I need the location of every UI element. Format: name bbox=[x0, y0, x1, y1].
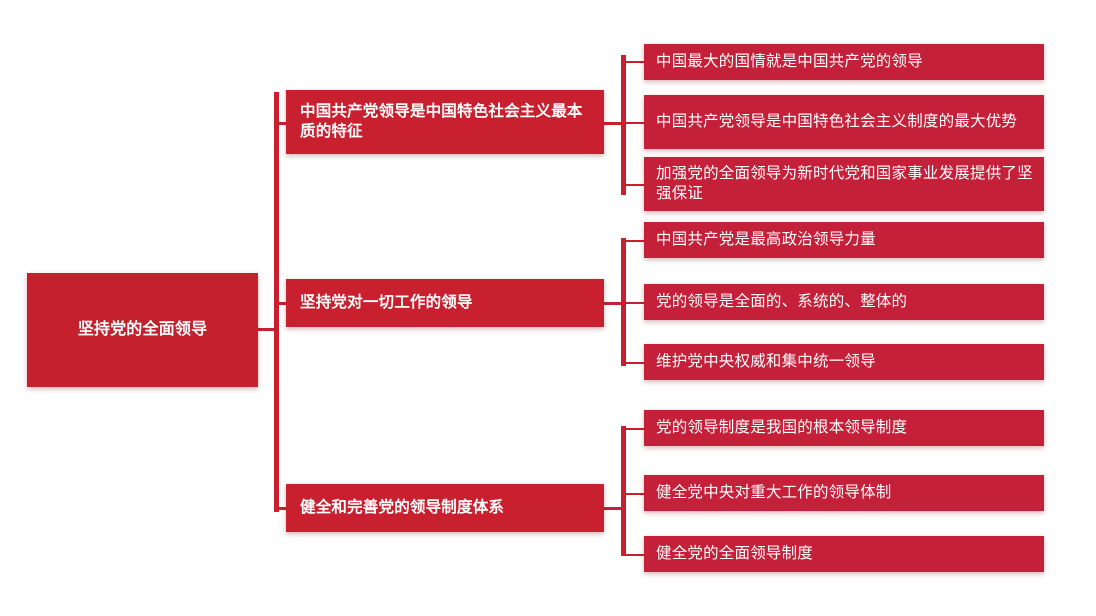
leaf-node-2-1[interactable]: 中国共产党是最高政治领导力量 bbox=[644, 222, 1044, 258]
leaf-node-1-3[interactable]: 加强党的全面领导为新时代党和国家事业发展提供了坚强保证 bbox=[644, 157, 1044, 211]
connector-leaf-stub-3-2 bbox=[621, 493, 645, 495]
branch-node-2[interactable]: 坚持党对一切工作的领导 bbox=[286, 279, 604, 327]
branch-node-3[interactable]: 健全和完善党的领导制度体系 bbox=[286, 484, 604, 532]
root-node-label: 坚持党的全面领导 bbox=[27, 320, 258, 341]
leaf-node-3-1-label: 党的领导制度是我国的根本领导制度 bbox=[656, 418, 1034, 438]
branch-node-3-label: 健全和完善党的领导制度体系 bbox=[300, 498, 592, 518]
branch-node-1-label: 中国共产党领导是中国特色社会主义最本质的特征 bbox=[300, 102, 592, 142]
leaf-node-3-2[interactable]: 健全党中央对重大工作的领导体制 bbox=[644, 475, 1044, 511]
root-node[interactable]: 坚持党的全面领导 bbox=[27, 273, 258, 387]
leaf-node-2-3[interactable]: 维护党中央权威和集中统一领导 bbox=[644, 344, 1044, 380]
connector-group1-trunk bbox=[621, 55, 626, 195]
connector-leaf-stub-3-3 bbox=[621, 554, 645, 556]
connector-leaf-stub-1-3 bbox=[621, 184, 645, 186]
connector-group3-trunk bbox=[621, 426, 626, 556]
leaf-node-3-1[interactable]: 党的领导制度是我国的根本领导制度 bbox=[644, 410, 1044, 446]
leaf-node-3-2-label: 健全党中央对重大工作的领导体制 bbox=[656, 483, 1034, 503]
leaf-node-1-1[interactable]: 中国最大的国情就是中国共产党的领导 bbox=[644, 44, 1044, 80]
connector-leaf-stub-2-2 bbox=[621, 302, 645, 304]
leaf-node-1-3-label: 加强党的全面领导为新时代党和国家事业发展提供了坚强保证 bbox=[656, 164, 1034, 204]
mindmap-canvas: 坚持党的全面领导 中国共产党领导是中国特色社会主义最本质的特征 坚持党对一切工作… bbox=[0, 0, 1096, 616]
leaf-node-1-2[interactable]: 中国共产党领导是中国特色社会主义制度的最大优势 bbox=[644, 95, 1044, 149]
leaf-node-2-3-label: 维护党中央权威和集中统一领导 bbox=[656, 352, 1034, 372]
connector-leaf-stub-2-1 bbox=[621, 240, 645, 242]
connector-leaf-stub-1-1 bbox=[621, 61, 645, 63]
leaf-node-3-3[interactable]: 健全党的全面领导制度 bbox=[644, 536, 1044, 572]
leaf-node-3-3-label: 健全党的全面领导制度 bbox=[656, 544, 1034, 564]
connector-leaf-stub-3-1 bbox=[621, 428, 645, 430]
branch-node-2-label: 坚持党对一切工作的领导 bbox=[300, 293, 592, 313]
connector-leaf-stub-2-3 bbox=[621, 362, 645, 364]
connector-leaf-stub-1-2 bbox=[621, 122, 645, 124]
leaf-node-1-2-label: 中国共产党领导是中国特色社会主义制度的最大优势 bbox=[656, 112, 1034, 132]
leaf-node-2-2[interactable]: 党的领导是全面的、系统的、整体的 bbox=[644, 284, 1044, 320]
leaf-node-1-1-label: 中国最大的国情就是中国共产党的领导 bbox=[656, 52, 1034, 72]
branch-node-1[interactable]: 中国共产党领导是中国特色社会主义最本质的特征 bbox=[286, 90, 604, 154]
leaf-node-2-2-label: 党的领导是全面的、系统的、整体的 bbox=[656, 292, 1034, 312]
leaf-node-2-1-label: 中国共产党是最高政治领导力量 bbox=[656, 230, 1034, 250]
